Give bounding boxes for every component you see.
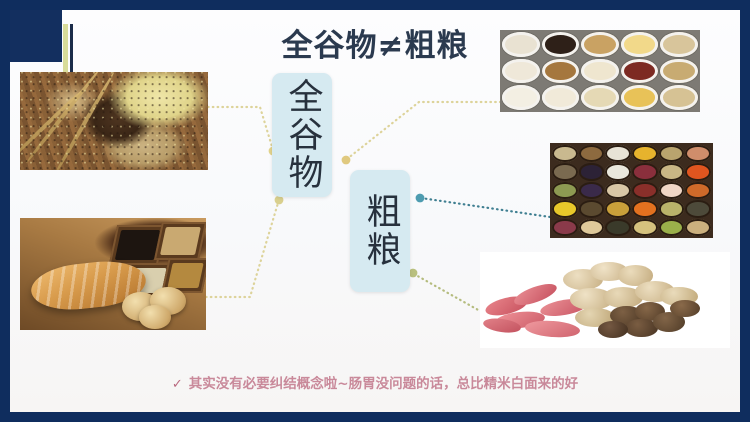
- image-bowls-grain: [500, 30, 700, 112]
- wire-grainswood-to-wholegrain: [208, 107, 277, 155]
- check-icon: ✓: [172, 377, 183, 392]
- slide-root: 全谷物≠粗粮: [0, 0, 750, 422]
- image-potatoes: [480, 252, 730, 348]
- label-box-whole-grain[interactable]: 全谷物: [272, 73, 332, 197]
- label-box-coarse-grain[interactable]: 粗粮: [350, 170, 410, 292]
- image-bread: [20, 218, 206, 330]
- label-text-coarse-grain: 粗粮: [361, 193, 398, 269]
- footer-caption-text: 其实没有必要纠结概念啦~肠胃没问题的话，总比精米白面来的好: [189, 376, 578, 392]
- footer-caption: ✓其实没有必要纠结概念啦~肠胃没问题的话，总比精米白面来的好: [10, 372, 740, 392]
- slide-canvas: 全谷物≠粗粮: [10, 10, 740, 412]
- wire-coarsegrain-to-beans: [416, 194, 550, 217]
- image-beans: [550, 143, 713, 238]
- wire-bread-to-wholegrain: [206, 196, 283, 297]
- wire-coarsegrain-to-potatoes: [409, 269, 480, 311]
- wire-wholegrain-to-bowls: [342, 102, 508, 164]
- label-text-whole-grain: 全谷物: [283, 78, 320, 192]
- image-grains-wood: [20, 72, 208, 170]
